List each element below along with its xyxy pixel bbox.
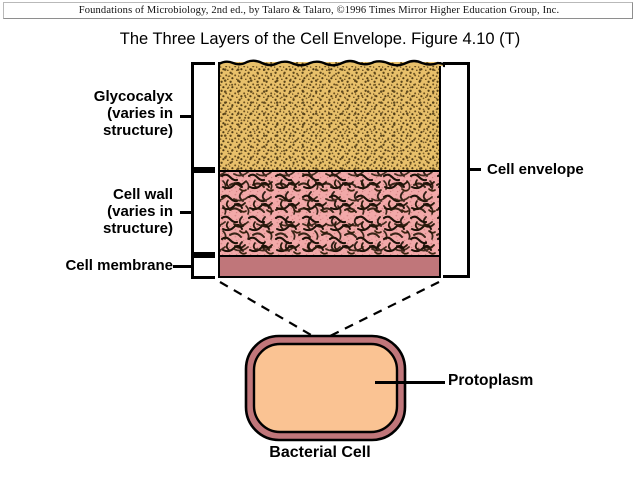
label-cell-envelope: Cell envelope [487, 161, 584, 178]
cell-wall-texture [220, 172, 439, 255]
layer-glycocalyx [218, 62, 441, 170]
figure-canvas: Foundations of Microbiology, 2nd ed., by… [0, 0, 640, 480]
label-cell-wall-line2: (varies in [30, 203, 173, 220]
label-cell-envelope-text: Cell envelope [487, 161, 584, 178]
figure-caption: Bacterial Cell [0, 444, 640, 462]
bracket-glycocalyx [191, 62, 218, 170]
layer-stack [218, 62, 441, 278]
protoplasm-leader-line [375, 381, 445, 384]
bracket-cell-wall [191, 170, 218, 255]
label-glycocalyx-line3: structure) [30, 122, 173, 139]
bracket-cell-envelope [455, 62, 483, 278]
layer-cell-wall [218, 170, 441, 255]
label-protoplasm: Protoplasm [448, 372, 533, 390]
label-cell-membrane-line1: Cell membrane [20, 257, 173, 274]
label-cell-wall-line3: structure) [30, 220, 173, 237]
glycocalyx-texture [220, 62, 439, 170]
glycocalyx-wavy-edge [218, 55, 445, 65]
label-glycocalyx-line1: Glycocalyx [30, 88, 173, 105]
label-glycocalyx-line2: (varies in [30, 105, 173, 122]
credit-text: Foundations of Microbiology, 2nd ed., by… [4, 3, 634, 18]
label-cell-wall: Cell wall (varies in structure) [30, 186, 173, 237]
layer-cell-membrane [218, 255, 441, 278]
bacterial-cell [243, 332, 408, 444]
label-cell-wall-line1: Cell wall [30, 186, 173, 203]
credit-bar: Foundations of Microbiology, 2nd ed., by… [3, 2, 633, 19]
label-glycocalyx: Glycocalyx (varies in structure) [30, 88, 173, 139]
page-title: The Three Layers of the Cell Envelope. F… [0, 30, 640, 49]
bracket-cell-membrane [191, 255, 218, 279]
label-cell-membrane: Cell membrane [20, 257, 173, 274]
